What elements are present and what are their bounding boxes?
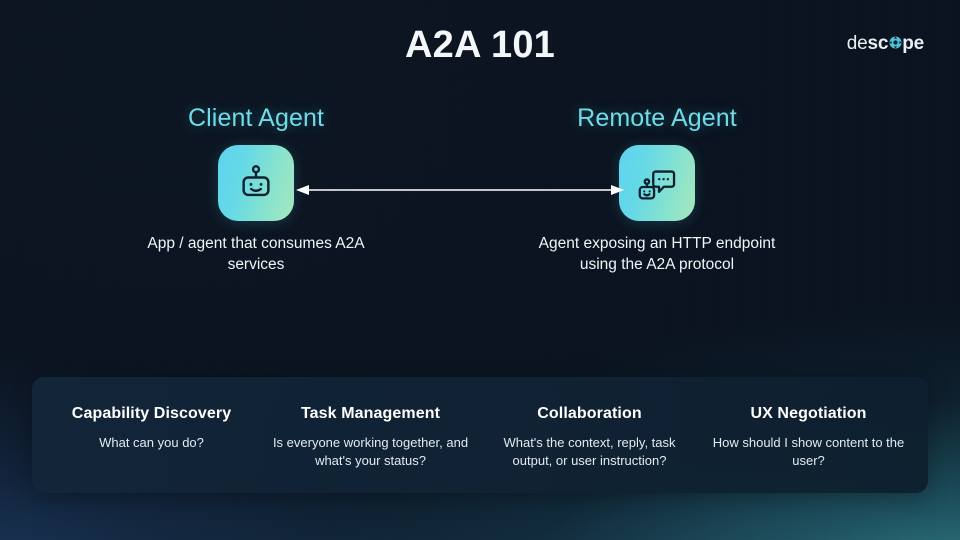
feature-title: Task Management: [269, 405, 472, 423]
robot-head-icon: [218, 145, 294, 221]
feature-title: Collaboration: [488, 405, 691, 423]
feature-title: Capability Discovery: [50, 405, 253, 423]
double-headed-arrow-icon: [296, 183, 624, 197]
remote-agent-title: Remote Agent: [527, 103, 787, 133]
feature-ux-negotiation: UX Negotiation How should I show content…: [699, 405, 918, 470]
feature-subtitle: How should I show content to the user?: [707, 434, 910, 470]
remote-agent-description: Agent exposing an HTTP endpoint using th…: [527, 234, 787, 275]
slide-canvas: A2A 101 de sc pe Client Agent: [0, 0, 960, 540]
client-agent-description: App / agent that consumes A2A services: [126, 234, 386, 275]
feature-title: UX Negotiation: [707, 405, 910, 423]
descope-o-mark-icon: [889, 33, 902, 46]
logo-text-sc: sc: [867, 33, 888, 55]
robot-chat-bubble-icon: [619, 145, 695, 221]
page-title: A2A 101: [0, 24, 960, 67]
client-agent-title: Client Agent: [126, 103, 386, 133]
feature-task-management: Task Management Is everyone working toge…: [261, 405, 480, 470]
feature-subtitle: What can you do?: [50, 434, 253, 452]
feature-collaboration: Collaboration What's the context, reply,…: [480, 405, 699, 470]
feature-panel: Capability Discovery What can you do? Ta…: [32, 377, 928, 493]
feature-capability-discovery: Capability Discovery What can you do?: [42, 405, 261, 452]
descope-logo: de sc pe: [847, 33, 924, 55]
logo-text-de: de: [847, 33, 868, 55]
feature-subtitle: What's the context, reply, task output, …: [488, 434, 691, 470]
logo-text-pe: pe: [902, 33, 924, 55]
feature-subtitle: Is everyone working together, and what's…: [269, 434, 472, 470]
